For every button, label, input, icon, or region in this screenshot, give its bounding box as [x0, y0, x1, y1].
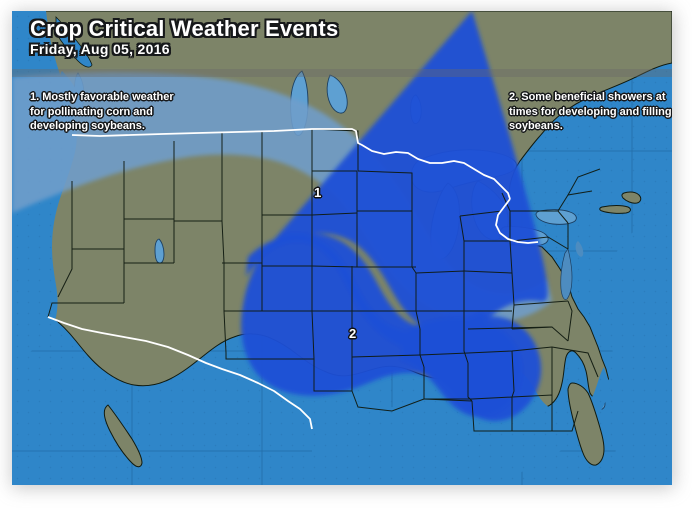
screenshot-frame: Crop Critical Weather Events Friday, Aug…: [0, 0, 692, 512]
weather-map[interactable]: Crop Critical Weather Events Friday, Aug…: [12, 11, 672, 485]
map-canvas[interactable]: [12, 11, 672, 485]
title-scrim: [12, 69, 672, 77]
long-island: [600, 206, 631, 214]
